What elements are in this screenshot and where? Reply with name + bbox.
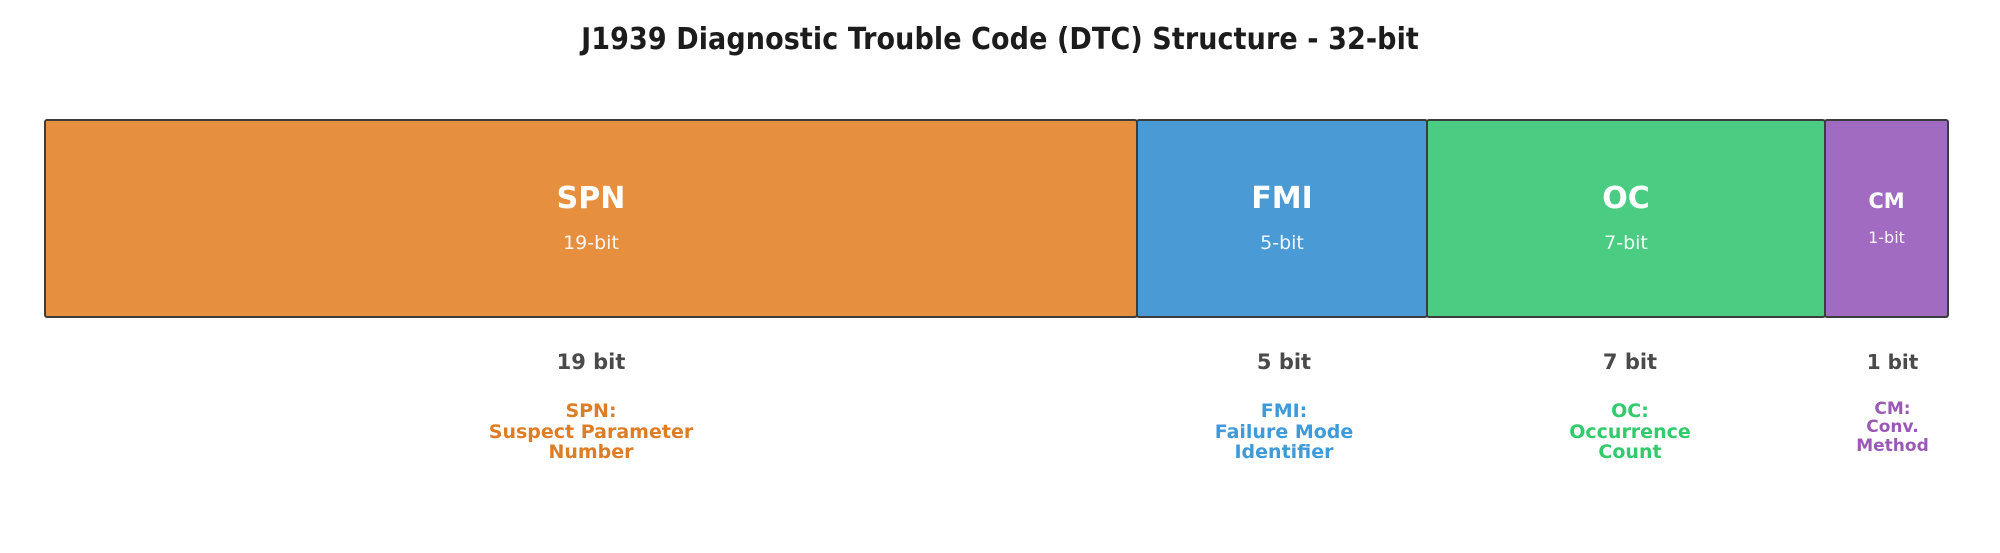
bitcount-label-fmi: 5 bit <box>1257 352 1311 373</box>
diagram-canvas: J1939 Diagnostic Trouble Code (DTC) Stru… <box>0 0 2000 553</box>
bitcount-label-cm: 1 bit <box>1867 352 1919 372</box>
annotation-cm: 1 bit CM: Conv. Method <box>1830 318 1955 518</box>
segment-bits-fmi: 5-bit <box>1260 234 1304 253</box>
description-fmi: FMI: Failure Mode Identifier <box>1215 401 1354 463</box>
bit-field-segment-oc: OC 7-bit <box>1426 119 1826 318</box>
segment-abbr-oc: OC <box>1602 184 1650 214</box>
annotation-oc: 7 bit OC: Occurrence Count <box>1430 318 1830 518</box>
segment-abbr-fmi: FMI <box>1251 184 1313 214</box>
bit-field-segment-cm: CM 1-bit <box>1824 119 1949 318</box>
annotation-row: 19 bit SPN: Suspect Parameter Number 5 b… <box>44 318 1955 518</box>
bit-field-segment-spn: SPN 19-bit <box>44 119 1138 318</box>
annotation-spn: 19 bit SPN: Suspect Parameter Number <box>44 318 1138 518</box>
description-spn: SPN: Suspect Parameter Number <box>489 401 693 463</box>
description-oc: OC: Occurrence Count <box>1569 401 1691 463</box>
segment-abbr-spn: SPN <box>557 184 626 214</box>
bit-field-segment-fmi: FMI 5-bit <box>1136 119 1428 318</box>
segment-bits-spn: 19-bit <box>563 234 619 253</box>
segment-bits-oc: 7-bit <box>1604 234 1648 253</box>
description-cm: CM: Conv. Method <box>1856 400 1929 455</box>
page-title: J1939 Diagnostic Trouble Code (DTC) Stru… <box>0 22 2000 57</box>
segment-bits-cm: 1-bit <box>1868 230 1905 246</box>
segment-abbr-cm: CM <box>1868 191 1904 212</box>
bit-field-bar: SPN 19-bit FMI 5-bit OC 7-bit CM 1-bit <box>44 119 1955 318</box>
bitcount-label-spn: 19 bit <box>557 352 626 373</box>
bitcount-label-oc: 7 bit <box>1603 352 1657 373</box>
annotation-fmi: 5 bit FMI: Failure Mode Identifier <box>1138 318 1430 518</box>
